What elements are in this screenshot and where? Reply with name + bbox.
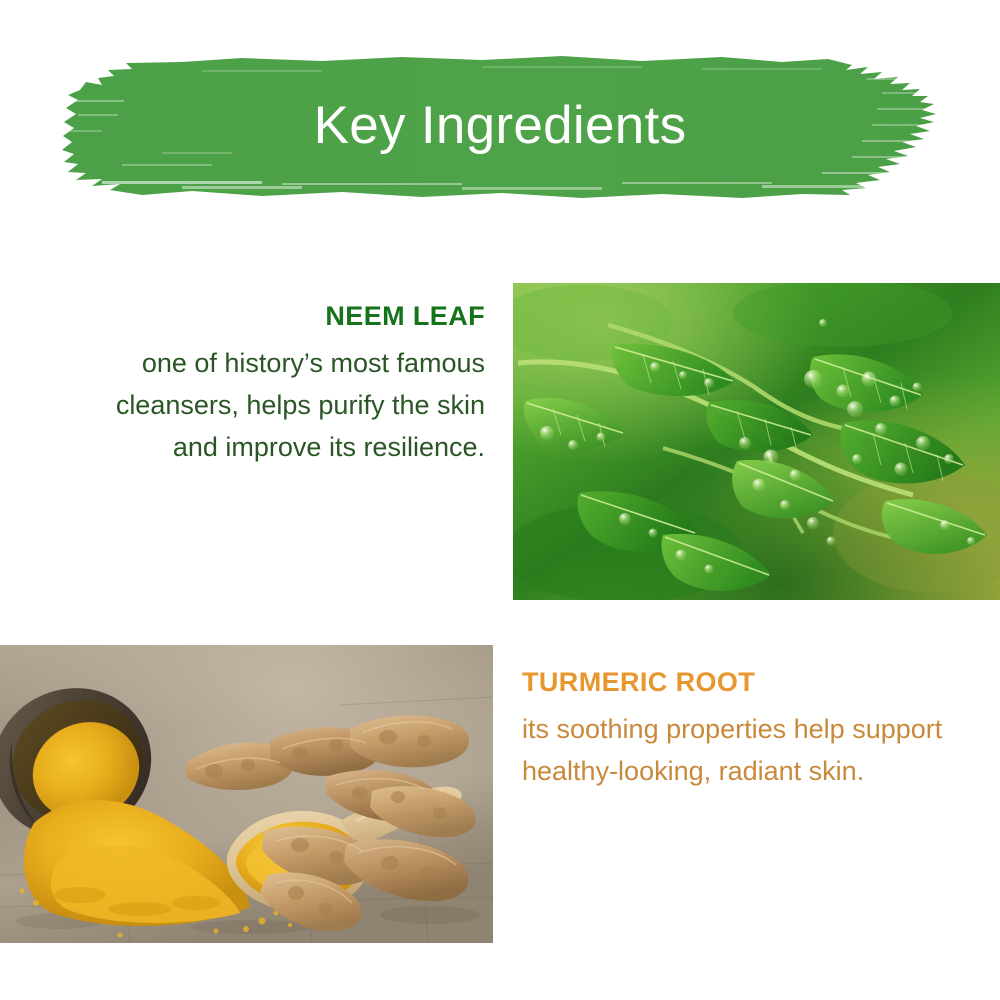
neem-description: one of history’s most famous cleansers, … <box>90 342 485 468</box>
turmeric-heading: TURMERIC ROOT <box>522 666 952 698</box>
turmeric-root-photo <box>0 645 493 943</box>
neem-heading: NEEM LEAF <box>90 300 485 332</box>
turmeric-description: its soothing properties help support hea… <box>522 708 952 792</box>
neem-leaf-photo <box>513 283 1000 600</box>
neem-leaf-illustration <box>513 283 1000 600</box>
key-ingredients-infographic: Key Ingredients NEEM LEAF one of history… <box>0 0 1000 1000</box>
neem-text-block: NEEM LEAF one of history’s most famous c… <box>90 300 485 468</box>
turmeric-root-illustration <box>0 645 493 943</box>
turmeric-text-block: TURMERIC ROOT its soothing properties he… <box>522 666 952 792</box>
page-title: Key Ingredients <box>0 52 1000 200</box>
